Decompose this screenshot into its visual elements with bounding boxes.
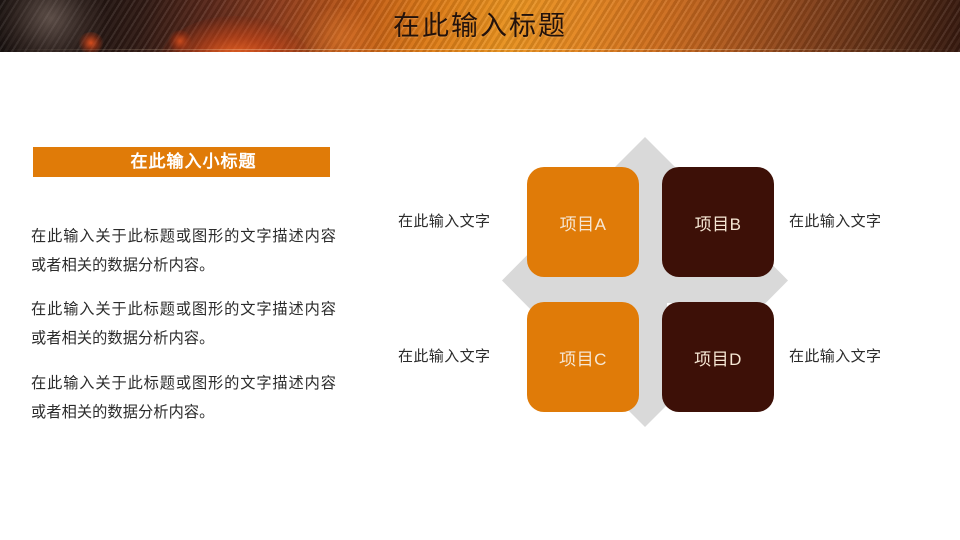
- quadrant-box-a-label: 项目A: [560, 210, 607, 235]
- description-paragraph-list: 在此输入关于此标题或图形的文字描述内容或者相关的数据分析内容。 在此输入关于此标…: [31, 207, 336, 427]
- description-paragraph: 在此输入关于此标题或图形的文字描述内容或者相关的数据分析内容。: [31, 369, 336, 427]
- subtitle-banner: 在此输入小标题: [33, 147, 330, 177]
- quadrant-box-d[interactable]: 项目D: [662, 302, 774, 412]
- description-paragraph: 在此输入关于此标题或图形的文字描述内容或者相关的数据分析内容。: [31, 222, 336, 280]
- page-title: 在此输入标题: [0, 0, 960, 52]
- side-label-right-top: 在此输入文字: [789, 212, 881, 232]
- header-banner: 在此输入标题: [0, 0, 960, 52]
- quadrant-box-a[interactable]: 项目A: [527, 167, 639, 277]
- quadrant-diagram: 项目A 项目B 项目C 项目D: [495, 135, 795, 430]
- quadrant-box-b-label: 项目B: [695, 210, 742, 235]
- side-label-left-bottom: 在此输入文字: [398, 347, 490, 367]
- quadrant-box-c-label: 项目C: [559, 345, 607, 370]
- subtitle-label: 在此输入小标题: [33, 147, 330, 177]
- description-paragraph: 在此输入关于此标题或图形的文字描述内容或者相关的数据分析内容。: [31, 295, 336, 353]
- side-label-right-bottom: 在此输入文字: [789, 347, 881, 367]
- quadrant-box-c[interactable]: 项目C: [527, 302, 639, 412]
- quadrant-box-d-label: 项目D: [694, 345, 742, 370]
- side-label-left-top: 在此输入文字: [398, 212, 490, 232]
- quadrant-box-b[interactable]: 项目B: [662, 167, 774, 277]
